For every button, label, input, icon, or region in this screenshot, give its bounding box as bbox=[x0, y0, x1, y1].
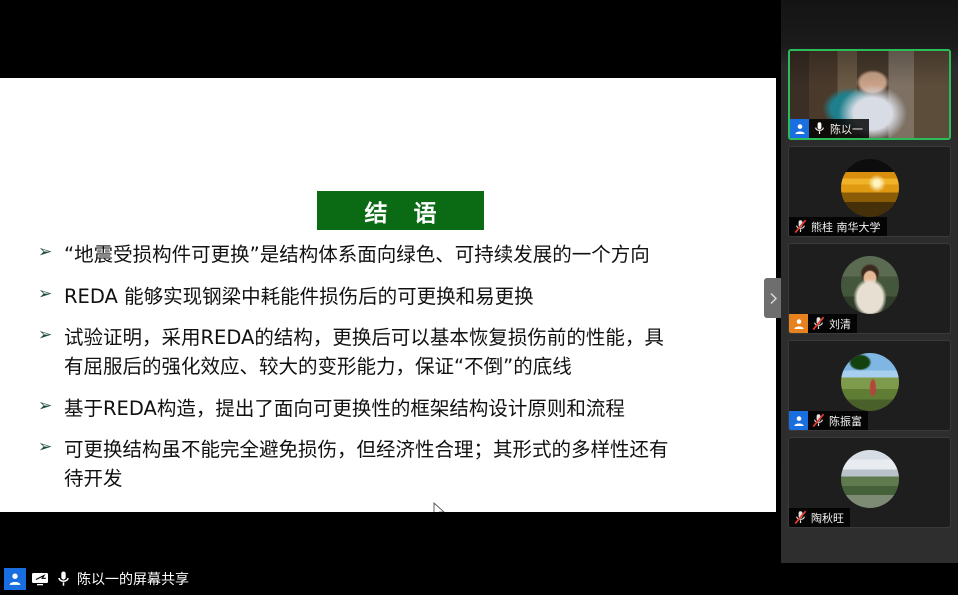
microphone-muted-icon bbox=[812, 316, 825, 331]
bullet-text: 可更换结构虽不能完全避免损伤，但经济性合理；其形式的多样性还有 待开发 bbox=[64, 436, 758, 493]
shared-screen-area[interactable]: 结 语 ➢ “地震受损构件可更换”是结构体系面向绿色、可持续发展的一个方向 ➢ … bbox=[0, 0, 781, 563]
person-icon bbox=[789, 411, 808, 430]
participant-tile[interactable]: 陶秋旺 bbox=[788, 437, 951, 528]
participant-avatar bbox=[841, 353, 899, 411]
slide-bullet-list: ➢ “地震受损构件可更换”是结构体系面向绿色、可持续发展的一个方向 ➢ REDA… bbox=[38, 241, 758, 507]
participant-info-bar: 陈以一 bbox=[790, 119, 869, 138]
participant-tile[interactable]: 陈振富 bbox=[788, 340, 951, 431]
bullet-item: ➢ 可更换结构虽不能完全避免损伤，但经济性合理；其形式的多样性还有 待开发 bbox=[38, 436, 758, 493]
microphone-icon bbox=[813, 121, 826, 136]
participant-tile[interactable]: 熊桂 南华大学 bbox=[788, 146, 951, 237]
screen-share-status-bar: 陈以一的屏幕共享 bbox=[0, 563, 958, 595]
bullet-text: 试验证明，采用REDA的结构，更换后可以基本恢复损伤前的性能，具 有屈服后的强化… bbox=[64, 324, 758, 381]
participant-info-bar: 刘清 bbox=[789, 314, 857, 333]
bullet-item: ➢ REDA 能够实现钢梁中耗能件损伤后的可更换和易更换 bbox=[38, 283, 758, 312]
bullet-item: ➢ 基于REDA构造，提出了面向可更换性的框架结构设计原则和流程 bbox=[38, 395, 758, 424]
bullet-text: “地震受损构件可更换”是结构体系面向绿色、可持续发展的一个方向 bbox=[64, 241, 758, 270]
participant-name: 陈振富 bbox=[829, 413, 862, 429]
person-icon bbox=[789, 314, 808, 333]
participant-tile[interactable]: 刘清 bbox=[788, 243, 951, 334]
participant-info-bar: 陈振富 bbox=[789, 411, 868, 430]
bullet-item: ➢ 试验证明，采用REDA的结构，更换后可以基本恢复损伤前的性能，具 有屈服后的… bbox=[38, 324, 758, 381]
bullet-text: REDA 能够实现钢梁中耗能件损伤后的可更换和易更换 bbox=[64, 283, 758, 312]
bullet-item: ➢ “地震受损构件可更换”是结构体系面向绿色、可持续发展的一个方向 bbox=[38, 241, 758, 270]
slide-title: 结 语 bbox=[355, 194, 445, 228]
bullet-arrow-icon: ➢ bbox=[38, 241, 64, 261]
participant-name: 刘清 bbox=[829, 316, 851, 332]
participant-name: 熊桂 南华大学 bbox=[811, 219, 881, 235]
person-icon bbox=[790, 119, 809, 138]
microphone-icon bbox=[56, 570, 71, 588]
participant-avatar bbox=[841, 159, 899, 217]
participant-avatar bbox=[841, 450, 899, 508]
bullet-text: 基于REDA构造，提出了面向可更换性的框架结构设计原则和流程 bbox=[64, 395, 758, 424]
person-icon bbox=[4, 568, 26, 590]
mouse-cursor bbox=[433, 502, 447, 512]
chevron-right-icon bbox=[769, 292, 778, 305]
bullet-arrow-icon: ➢ bbox=[38, 283, 64, 303]
participant-name: 陈以一 bbox=[830, 121, 863, 137]
microphone-muted-icon bbox=[794, 510, 807, 525]
participant-name: 陶秋旺 bbox=[811, 510, 844, 526]
participant-tile[interactable]: 陈以一 bbox=[788, 49, 951, 140]
screen-share-label: 陈以一的屏幕共享 bbox=[77, 569, 189, 589]
screen-share-icon bbox=[31, 570, 51, 588]
participant-info-bar: 陶秋旺 bbox=[789, 508, 850, 527]
bullet-arrow-icon: ➢ bbox=[38, 324, 64, 344]
bullet-arrow-icon: ➢ bbox=[38, 395, 64, 415]
participant-avatar bbox=[841, 256, 899, 314]
participant-video-strip[interactable]: 陈以一 熊桂 南华大学 bbox=[781, 0, 958, 563]
powerpoint-slide[interactable]: 结 语 ➢ “地震受损构件可更换”是结构体系面向绿色、可持续发展的一个方向 ➢ … bbox=[0, 78, 776, 512]
bullet-arrow-icon: ➢ bbox=[38, 436, 64, 456]
zoom-meeting-window: 结 语 ➢ “地震受损构件可更换”是结构体系面向绿色、可持续发展的一个方向 ➢ … bbox=[0, 0, 958, 595]
participant-info-bar: 熊桂 南华大学 bbox=[789, 217, 887, 236]
microphone-muted-icon bbox=[812, 413, 825, 428]
microphone-muted-icon bbox=[794, 219, 807, 234]
panel-toggle-button[interactable] bbox=[764, 278, 782, 318]
slide-title-box: 结 语 bbox=[317, 191, 484, 230]
